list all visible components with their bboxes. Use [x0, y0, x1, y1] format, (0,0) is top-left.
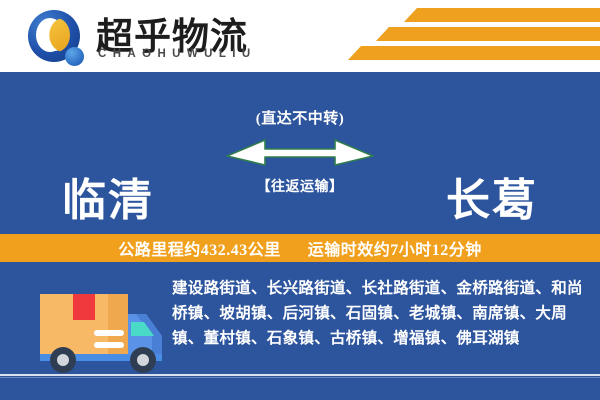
coverage-panel: 建设路街道、长兴路街道、长社路街道、金桥路街道、和尚桥镇、坡胡镇、后河镇、石固镇… [0, 264, 600, 400]
logo-dot [65, 47, 84, 66]
logistics-route-card: 超乎物流 CHAOHUWULIU 临清 (直达不中转) 【往返运输】 长葛 公路… [0, 0, 600, 400]
stripe-bottom [348, 46, 600, 60]
stripe-middle [376, 27, 600, 41]
bottom-divider-line-secondary [0, 377, 600, 378]
duration-text: 运输时效约7小时12分钟 [308, 242, 482, 259]
bidirectional-arrow-icon [225, 134, 375, 170]
stripe-top [404, 8, 600, 22]
orange-speed-stripes-icon [340, 8, 600, 66]
coverage-district-list: 建设路街道、长兴路街道、长社路街道、金桥路街道、和尚桥镇、坡胡镇、后河镇、石固镇… [172, 276, 584, 351]
distance-text: 公路里程约432.43公里 [118, 242, 281, 259]
destination-city: 长葛 [446, 164, 538, 228]
delivery-truck-icon [30, 278, 170, 374]
route-middle: (直达不中转) 【往返运输】 [190, 72, 410, 232]
header-bar: 超乎物流 CHAOHUWULIU [0, 0, 600, 72]
bottom-divider-line [0, 374, 600, 376]
chaohu-circle-logo-icon [28, 10, 84, 66]
route-panel: 临清 (直达不中转) 【往返运输】 长葛 [0, 72, 600, 232]
round-trip-note: 【往返运输】 [190, 176, 410, 196]
origin-city: 临清 [62, 164, 154, 228]
route-info-bar: 公路里程约432.43公里 运输时效约7小时12分钟 [0, 232, 600, 264]
info-bar-content: 公路里程约432.43公里 运输时效约7小时12分钟 [118, 236, 482, 260]
brand-name-en: CHAOHUWULIU [98, 48, 257, 60]
direct-service-note: (直达不中转) [190, 107, 410, 128]
